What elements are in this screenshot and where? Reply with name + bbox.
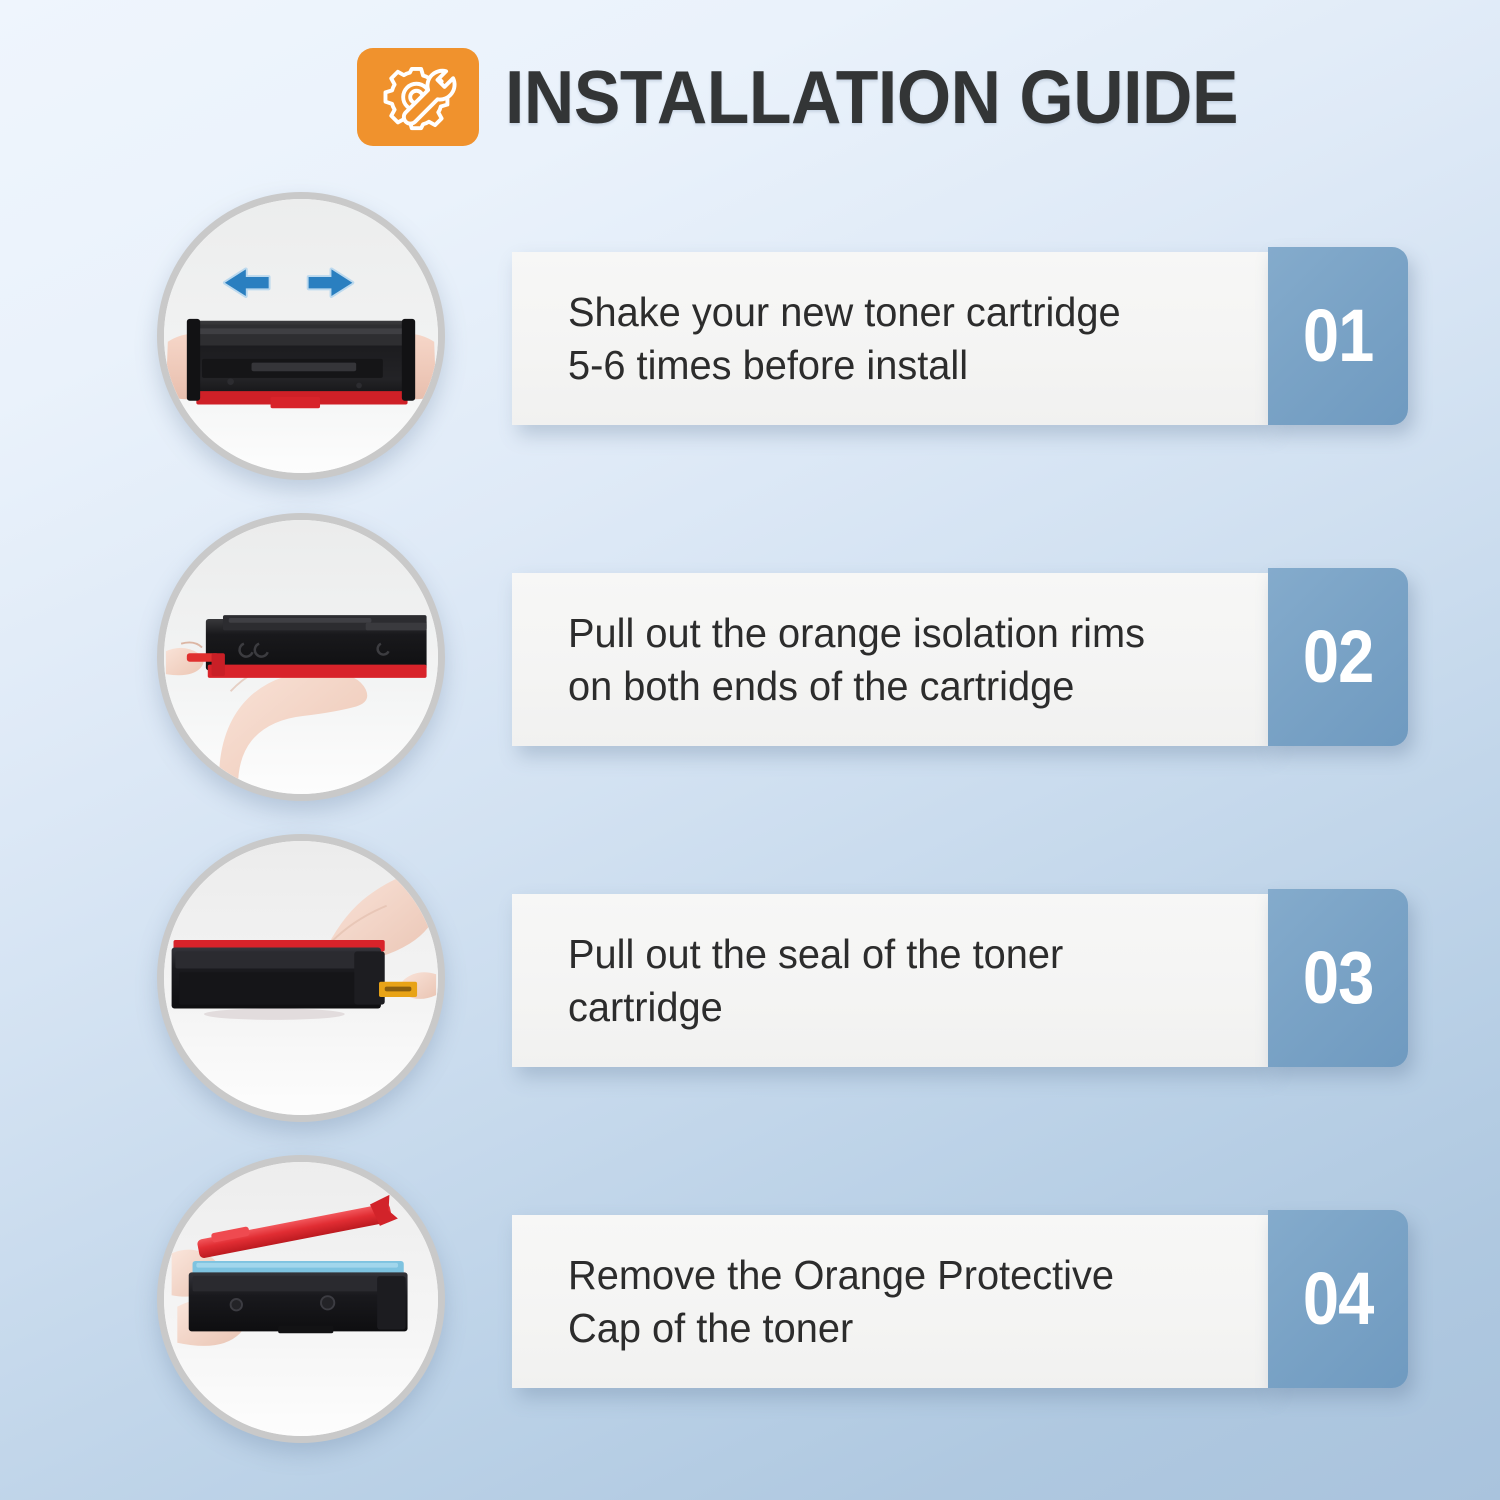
step-text: Shake your new toner cartridge 5-6 times… <box>568 286 1121 391</box>
step-card-body: Shake your new toner cartridge 5-6 times… <box>512 252 1268 425</box>
step-number-badge: 02 <box>1268 568 1408 746</box>
step-card: Pull out the seal of the toner cartridge… <box>512 889 1408 1067</box>
step-item: Shake your new toner cartridge 5-6 times… <box>0 175 1500 496</box>
step-text: Remove the Orange Protective Cap of the … <box>568 1249 1114 1354</box>
page-title: INSTALLATION GUIDE <box>505 60 1238 135</box>
step-number-badge: 01 <box>1268 247 1408 425</box>
step-card: Pull out the orange isolation rims on bo… <box>512 568 1408 746</box>
step-number: 04 <box>1303 1262 1374 1336</box>
step-number: 03 <box>1303 941 1374 1015</box>
step-card: Remove the Orange Protective Cap of the … <box>512 1210 1408 1388</box>
step-card-body: Remove the Orange Protective Cap of the … <box>512 1215 1268 1388</box>
step-card-body: Pull out the orange isolation rims on bo… <box>512 573 1268 746</box>
step-number: 02 <box>1303 620 1374 694</box>
step-number: 01 <box>1303 299 1374 373</box>
step-item: Remove the Orange Protective Cap of the … <box>0 1138 1500 1459</box>
toner-cartridge-protective-cap-photo <box>157 1155 445 1443</box>
installation-guide-page: INSTALLATION GUIDE <box>0 0 1500 1500</box>
step-number-badge: 03 <box>1268 889 1408 1067</box>
step-card-body: Pull out the seal of the toner cartridge <box>512 894 1268 1067</box>
toner-cartridge-shake-photo <box>157 192 445 480</box>
gear-wrench-icon <box>357 48 479 146</box>
step-item: Pull out the seal of the toner cartridge… <box>0 817 1500 1138</box>
toner-cartridge-seal-photo <box>157 834 445 1122</box>
step-card: Shake your new toner cartridge 5-6 times… <box>512 247 1408 425</box>
step-number-badge: 04 <box>1268 1210 1408 1388</box>
step-text: Pull out the orange isolation rims on bo… <box>568 607 1145 712</box>
step-text: Pull out the seal of the toner cartridge <box>568 928 1063 1033</box>
page-header: INSTALLATION GUIDE <box>357 48 1293 146</box>
toner-cartridge-isolation-rim-photo <box>157 513 445 801</box>
step-item: Pull out the orange isolation rims on bo… <box>0 496 1500 817</box>
